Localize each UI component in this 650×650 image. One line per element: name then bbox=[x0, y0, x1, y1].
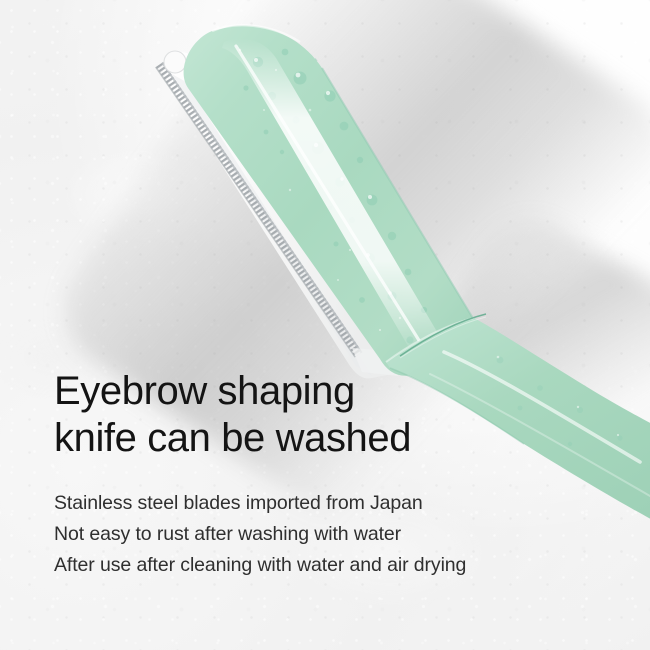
marketing-copy: Eyebrow shaping knife can be washed Stai… bbox=[54, 368, 614, 581]
feature-item: Stainless steel blades imported from Jap… bbox=[54, 488, 614, 519]
headline-line-1: Eyebrow shaping bbox=[54, 369, 355, 413]
product-banner: Eyebrow shaping knife can be washed Stai… bbox=[0, 0, 650, 650]
feature-list: Stainless steel blades imported from Jap… bbox=[54, 488, 614, 581]
feature-item: Not easy to rust after washing with wate… bbox=[54, 519, 614, 550]
feature-item: After use after cleaning with water and … bbox=[54, 550, 614, 581]
headline: Eyebrow shaping knife can be washed bbox=[54, 368, 614, 462]
headline-line-2: knife can be washed bbox=[54, 416, 411, 460]
